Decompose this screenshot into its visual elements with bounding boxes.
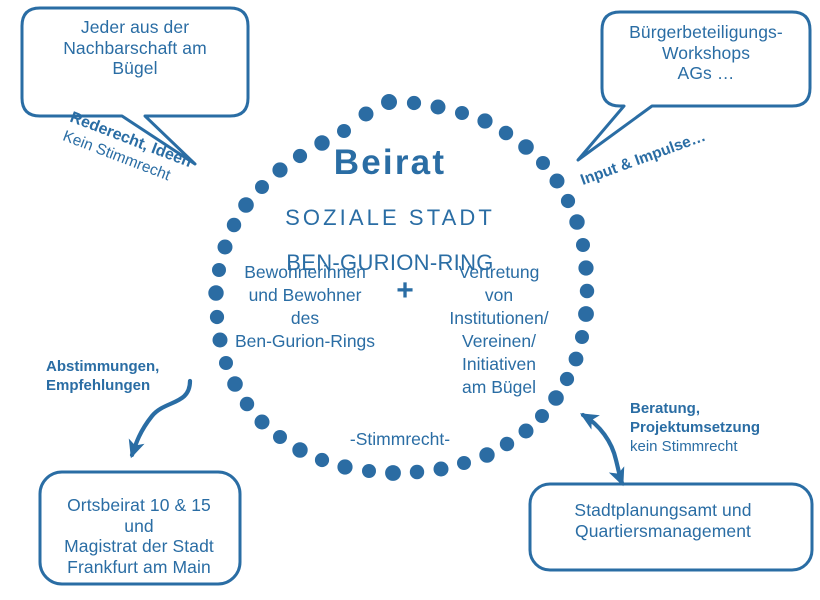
diagram-canvas: Jeder aus der Nachbarschaft am Bügel Bür…	[0, 0, 820, 600]
diagram-vector-layer	[0, 0, 820, 600]
double-arrow-stadtplanungsamt	[583, 415, 622, 483]
bottom-right-box[interactable]	[530, 484, 812, 570]
dotted-ring	[208, 94, 594, 481]
top-right-speech-bubble[interactable]	[578, 12, 810, 160]
bottom-left-box[interactable]	[40, 472, 240, 584]
top-left-speech-bubble[interactable]	[22, 8, 248, 164]
arrow-to-ortsbeirat	[132, 381, 190, 455]
